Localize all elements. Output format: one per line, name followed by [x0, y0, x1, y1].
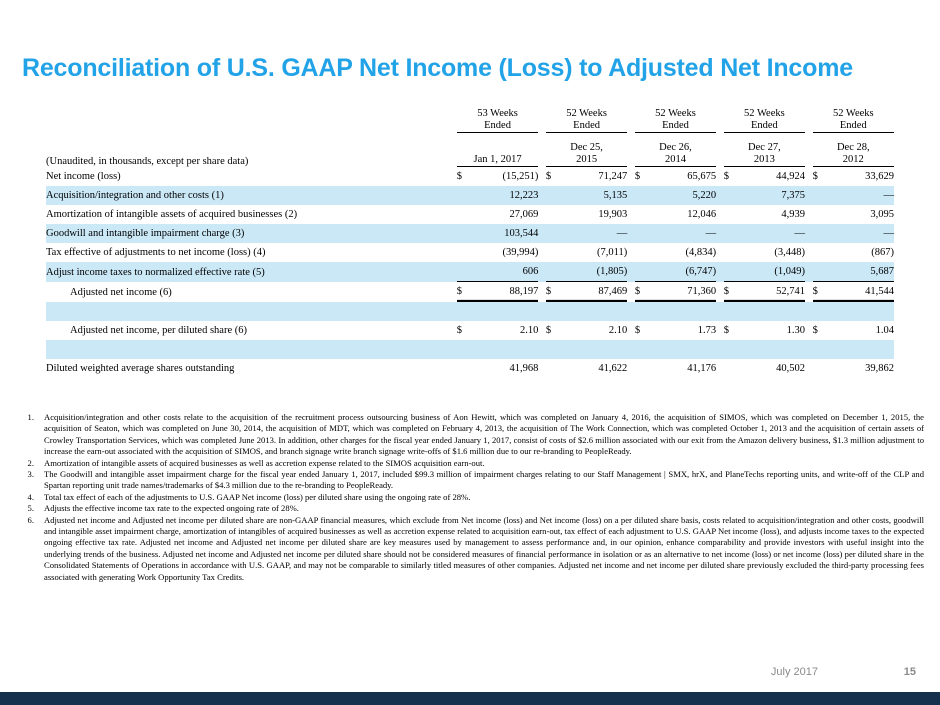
- row-label: Adjusted net income, per diluted share (…: [46, 321, 457, 340]
- footnote-text: The Goodwill and intangible asset impair…: [44, 469, 924, 492]
- footer-page-number: 15: [904, 666, 916, 678]
- row-label: Diluted weighted average shares outstand…: [46, 359, 457, 378]
- row-currency: $: [546, 167, 560, 187]
- row-value: 1.04: [826, 321, 894, 340]
- row-label: Goodwill and intangible impairment charg…: [46, 224, 457, 243]
- row-currency: [457, 205, 471, 224]
- row-value: (6,747): [648, 262, 716, 282]
- row-currency: [457, 186, 471, 205]
- period-header-0: 53 WeeksEnded: [457, 108, 539, 133]
- row-currency: $: [813, 282, 827, 302]
- row-value: 71,247: [559, 167, 627, 187]
- spacer-row: [46, 302, 894, 322]
- table-header-periods: 53 WeeksEnded 52 WeeksEnded 52 WeeksEnde…: [46, 108, 894, 133]
- row-currency: [546, 224, 560, 243]
- row-currency: [724, 359, 738, 378]
- row-value: (1,049): [737, 262, 805, 282]
- table-header-dates: (Unaudited, in thousands, except per sha…: [46, 142, 894, 167]
- reconciliation-table-container: 53 WeeksEnded 52 WeeksEnded 52 WeeksEnde…: [46, 108, 894, 378]
- footnote-number: 4.: [18, 492, 44, 503]
- row-value: 33,629: [826, 167, 894, 187]
- row-currency: [635, 359, 649, 378]
- table-row: Acquisition/integration and other costs …: [46, 186, 894, 205]
- table-row: Goodwill and intangible impairment charg…: [46, 224, 894, 243]
- footnote-number: 5.: [18, 503, 44, 514]
- row-label: Net income (loss): [46, 167, 457, 187]
- row-currency: [724, 243, 738, 262]
- row-currency: [457, 224, 471, 243]
- row-value: (3,448): [737, 243, 805, 262]
- period-header-2: 52 WeeksEnded: [635, 108, 716, 133]
- row-value: (4,834): [648, 243, 716, 262]
- footnote-item: 4. Total tax effect of each of the adjus…: [18, 492, 924, 503]
- row-label: Tax effective of adjustments to net inco…: [46, 243, 457, 262]
- row-currency: [635, 224, 649, 243]
- table-row-total: Adjusted net income (6) $ 88,197 $ 87,46…: [46, 282, 894, 302]
- row-label: Adjust income taxes to normalized effect…: [46, 262, 457, 282]
- row-currency: $: [813, 321, 827, 340]
- row-value: 41,622: [559, 359, 627, 378]
- row-currency: $: [546, 282, 560, 302]
- header-spacer-row: [46, 133, 894, 143]
- row-currency: [546, 262, 560, 282]
- slide: Reconciliation of U.S. GAAP Net Income (…: [0, 0, 940, 705]
- row-currency: $: [457, 321, 471, 340]
- row-value: 2.10: [559, 321, 627, 340]
- row-value: 65,675: [648, 167, 716, 187]
- row-currency: [724, 224, 738, 243]
- bottom-accent-bar: [0, 692, 940, 705]
- row-currency: [635, 243, 649, 262]
- row-label: Adjusted net income (6): [46, 282, 457, 302]
- row-value: 1.73: [648, 321, 716, 340]
- footnote-item: 2. Amortization of intangible assets of …: [18, 458, 924, 469]
- footnote-item: 1. Acquisition/integration and other cos…: [18, 412, 924, 458]
- footnote-text: Acquisition/integration and other costs …: [44, 412, 924, 458]
- row-value: 52,741: [737, 282, 805, 302]
- row-value: 12,223: [470, 186, 538, 205]
- spacer-row: [46, 340, 894, 359]
- row-currency: [635, 186, 649, 205]
- row-currency: [724, 262, 738, 282]
- row-currency: [546, 359, 560, 378]
- row-currency: [813, 243, 827, 262]
- row-value: —: [559, 224, 627, 243]
- row-currency: $: [813, 167, 827, 187]
- row-currency: $: [457, 282, 471, 302]
- row-currency: [724, 205, 738, 224]
- row-currency: $: [724, 167, 738, 187]
- period-header-3: 52 WeeksEnded: [724, 108, 805, 133]
- row-value: 4,939: [737, 205, 805, 224]
- footnote-text: Total tax effect of each of the adjustme…: [44, 492, 924, 503]
- row-currency: [635, 205, 649, 224]
- row-currency: [457, 262, 471, 282]
- row-value: 2.10: [470, 321, 538, 340]
- row-currency: [546, 186, 560, 205]
- row-value: 39,862: [826, 359, 894, 378]
- row-currency: $: [546, 321, 560, 340]
- row-value: 40,502: [737, 359, 805, 378]
- row-currency: [457, 243, 471, 262]
- row-label: Amortization of intangible assets of acq…: [46, 205, 457, 224]
- row-value: 19,903: [559, 205, 627, 224]
- row-currency: [813, 224, 827, 243]
- row-value: 71,360: [648, 282, 716, 302]
- footnote-item: 5. Adjusts the effective income tax rate…: [18, 503, 924, 514]
- footnote-item: 6. Adjusted net income and Adjusted net …: [18, 515, 924, 583]
- row-currency: [813, 359, 827, 378]
- table-row: Amortization of intangible assets of acq…: [46, 205, 894, 224]
- row-value: 12,046: [648, 205, 716, 224]
- date-header-0: Jan 1, 2017: [457, 142, 539, 167]
- row-value: 41,968: [470, 359, 538, 378]
- row-value: 103,544: [470, 224, 538, 243]
- row-currency: [457, 359, 471, 378]
- row-currency: [546, 243, 560, 262]
- row-currency: $: [635, 282, 649, 302]
- row-value: 41,176: [648, 359, 716, 378]
- row-value: (15,251): [470, 167, 538, 187]
- row-currency: [813, 186, 827, 205]
- row-value: 5,687: [826, 262, 894, 282]
- footnote-number: 1.: [18, 412, 44, 423]
- page-title: Reconciliation of U.S. GAAP Net Income (…: [22, 54, 853, 83]
- table-subtitle: (Unaudited, in thousands, except per sha…: [46, 142, 457, 167]
- footnote-text: Adjusted net income and Adjusted net inc…: [44, 515, 924, 583]
- row-currency: [813, 205, 827, 224]
- row-value: 87,469: [559, 282, 627, 302]
- row-value: (1,805): [559, 262, 627, 282]
- table-row: Diluted weighted average shares outstand…: [46, 359, 894, 378]
- period-header-1: 52 WeeksEnded: [546, 108, 627, 133]
- date-header-1: Dec 25,2015: [546, 142, 627, 167]
- row-currency: $: [635, 321, 649, 340]
- row-currency: [635, 262, 649, 282]
- table-row: Adjust income taxes to normalized effect…: [46, 262, 894, 282]
- table-row: Tax effective of adjustments to net inco…: [46, 243, 894, 262]
- row-currency: $: [635, 167, 649, 187]
- footnote-number: 3.: [18, 469, 44, 480]
- footer-date: July 2017: [771, 666, 818, 678]
- row-value: 44,924: [737, 167, 805, 187]
- date-header-4: Dec 28,2012: [813, 142, 894, 167]
- row-value: —: [826, 224, 894, 243]
- row-value: 1.30: [737, 321, 805, 340]
- row-value: 41,544: [826, 282, 894, 302]
- row-currency: [724, 186, 738, 205]
- footnote-number: 6.: [18, 515, 44, 526]
- table-row: Net income (loss) $ (15,251) $ 71,247 $ …: [46, 167, 894, 187]
- footnote-text: Adjusts the effective income tax rate to…: [44, 503, 924, 514]
- row-value: 5,220: [648, 186, 716, 205]
- row-value: (7,011): [559, 243, 627, 262]
- date-header-2: Dec 26,2014: [635, 142, 716, 167]
- footnote-text: Amortization of intangible assets of acq…: [44, 458, 924, 469]
- row-value: 27,069: [470, 205, 538, 224]
- row-value: 606: [470, 262, 538, 282]
- date-header-3: Dec 27,2013: [724, 142, 805, 167]
- row-currency: [813, 262, 827, 282]
- row-value: —: [826, 186, 894, 205]
- row-value: 3,095: [826, 205, 894, 224]
- row-value: (39,994): [470, 243, 538, 262]
- footnotes-list: 1. Acquisition/integration and other cos…: [18, 412, 924, 583]
- row-currency: $: [724, 321, 738, 340]
- reconciliation-table: 53 WeeksEnded 52 WeeksEnded 52 WeeksEnde…: [46, 108, 894, 378]
- row-value: 88,197: [470, 282, 538, 302]
- row-currency: $: [457, 167, 471, 187]
- row-value: (867): [826, 243, 894, 262]
- period-header-4: 52 WeeksEnded: [813, 108, 894, 133]
- row-value: —: [737, 224, 805, 243]
- table-row: Adjusted net income, per diluted share (…: [46, 321, 894, 340]
- row-currency: $: [724, 282, 738, 302]
- row-value: —: [648, 224, 716, 243]
- footnote-item: 3. The Goodwill and intangible asset imp…: [18, 469, 924, 492]
- row-currency: [546, 205, 560, 224]
- row-value: 7,375: [737, 186, 805, 205]
- row-value: 5,135: [559, 186, 627, 205]
- row-label: Acquisition/integration and other costs …: [46, 186, 457, 205]
- footnote-number: 2.: [18, 458, 44, 469]
